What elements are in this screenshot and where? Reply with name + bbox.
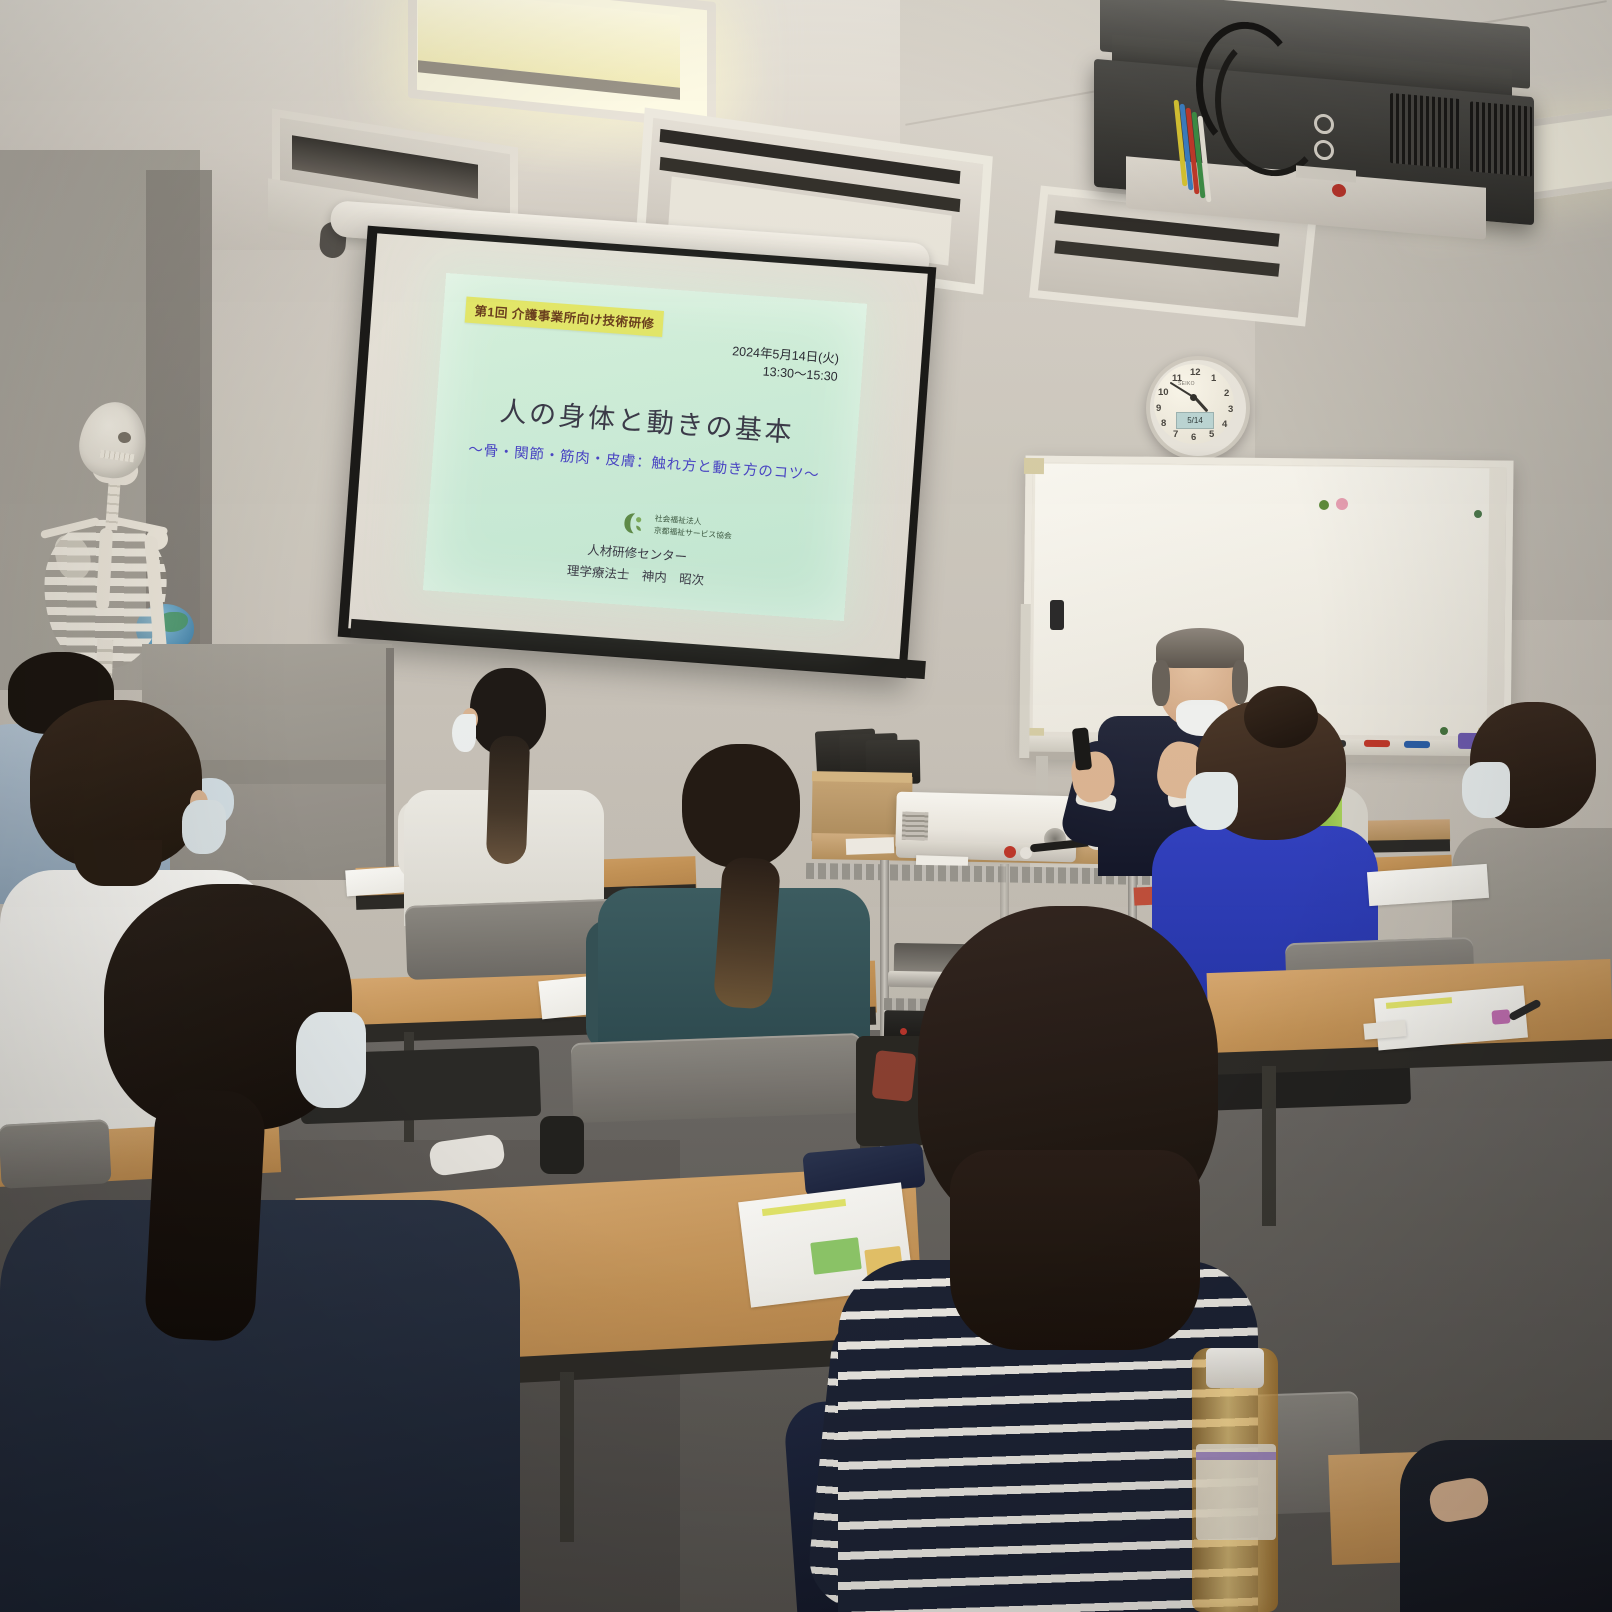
- clock-numeral: 4: [1222, 419, 1227, 430]
- clock-numeral: 3: [1228, 404, 1233, 415]
- whiteboard-corner: [1024, 458, 1044, 474]
- attendee-teal-ponytail: [713, 856, 781, 1010]
- attendee-white-tee-mask: [182, 800, 226, 854]
- projector-vent-grille: [1470, 101, 1532, 176]
- attendee-bottom-right-torso: [1400, 1440, 1612, 1612]
- cardboard-box-lid: [812, 771, 912, 783]
- table-front-leg: [560, 1372, 574, 1542]
- clock-numeral: 6: [1191, 432, 1196, 443]
- whiteboard-side-rail: [1019, 604, 1031, 758]
- attendee-white-top-mask: [452, 714, 476, 752]
- clock-center-pin: [1190, 394, 1197, 401]
- clock-numeral: 7: [1173, 429, 1178, 440]
- projector-vent-grille: [1390, 93, 1460, 169]
- handout-color-mark: [1491, 1009, 1510, 1025]
- slide-banner: 第1回 介護事業所向け技術研修: [465, 297, 665, 337]
- clock-numeral: 10: [1158, 387, 1169, 398]
- attendee-teal-head: [682, 744, 800, 868]
- clock-numeral: 1: [1211, 373, 1216, 384]
- clock-numeral: 12: [1190, 367, 1201, 378]
- whiteboard-magnet-green: [1319, 500, 1329, 510]
- presenter-hair: [1156, 628, 1244, 668]
- attendee-blue-top-hair-bun: [1244, 686, 1318, 748]
- whiteboard-magnet-green: [1440, 727, 1448, 735]
- attendee-striped-hair: [950, 1150, 1200, 1350]
- clock-numeral: 9: [1156, 403, 1161, 414]
- attendee-blue-top-mask: [1186, 772, 1238, 830]
- clock-brand-label: SEIKO: [1178, 381, 1195, 387]
- presenter-hair-side: [1232, 660, 1248, 704]
- seminar-room-photo: NEC 第1回 介護事業所向け技術研修 2024年5月14日(火) 13:30〜…: [0, 0, 1612, 1612]
- chair-back[interactable]: [571, 1033, 864, 1123]
- rca-jack-red: [1004, 846, 1016, 858]
- whiteboard-marker-red[interactable]: [1364, 740, 1390, 747]
- water-bottle-label-band: [1196, 1452, 1276, 1460]
- presenter-hair-side: [1152, 660, 1170, 706]
- amplifier-power-led: [900, 1028, 907, 1035]
- clock-numeral: 2: [1224, 388, 1229, 399]
- attendee-navy-mask: [296, 1012, 366, 1108]
- clock-numeral: 8: [1161, 418, 1166, 429]
- organization-logo-icon: [622, 511, 648, 537]
- bag-accent: [872, 1050, 917, 1102]
- projected-slide: 第1回 介護事業所向け技術研修 2024年5月14日(火) 13:30〜15:3…: [423, 273, 867, 621]
- whiteboard-marker-blue[interactable]: [1404, 741, 1430, 748]
- attendee-gray-top-mask: [1462, 762, 1510, 818]
- attendee-white-top-ponytail: [486, 735, 530, 864]
- chair-back[interactable]: [0, 1119, 112, 1189]
- table-right-front-leg: [1262, 1066, 1276, 1226]
- slide-date-block: 2024年5月14日(火) 13:30〜15:30: [730, 342, 839, 386]
- attendee-white-tee-nape: [74, 840, 162, 886]
- handout-illustration-green: [810, 1237, 862, 1275]
- slide-organization-name: 社会福祉法人 京都福祉サービス協会: [653, 513, 732, 542]
- clock-numeral: 5: [1209, 429, 1214, 440]
- shoe: [540, 1116, 584, 1174]
- whiteboard-magnet-green: [1474, 510, 1482, 518]
- cabinet-edge: [386, 648, 394, 880]
- whiteboard-magnet-pink: [1336, 498, 1348, 510]
- clock-date-window: 5/14: [1176, 412, 1214, 429]
- slide-center-credits: 人材研修センター 理学療法士 神内 昭次: [424, 528, 848, 603]
- projector-power-indicator: [1332, 183, 1346, 197]
- paper-slip: [846, 837, 895, 855]
- whiteboard-marker-holder: [1050, 600, 1064, 630]
- attendee-navy-torso: [0, 1200, 520, 1612]
- water-bottle-cap: [1206, 1348, 1264, 1388]
- attendee-navy-ponytail: [144, 1087, 267, 1342]
